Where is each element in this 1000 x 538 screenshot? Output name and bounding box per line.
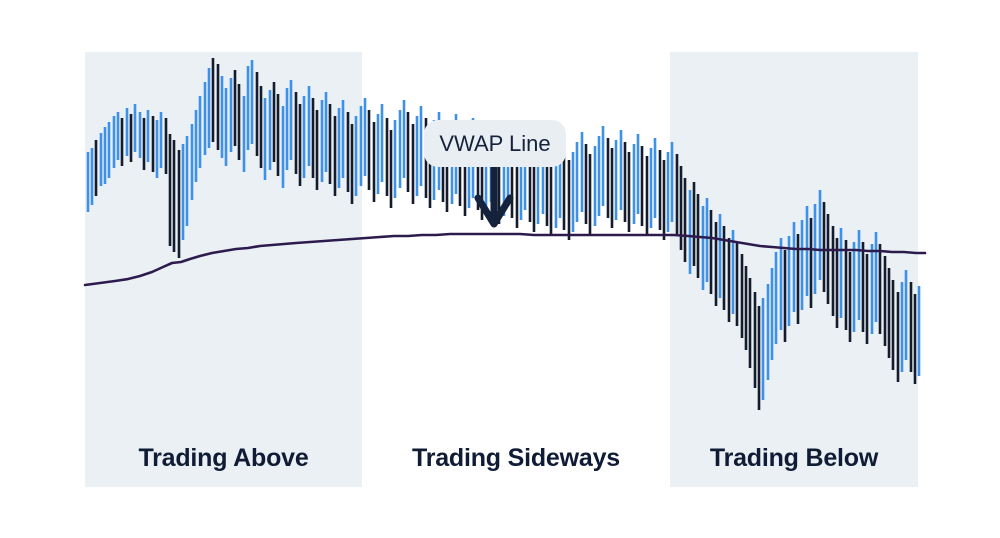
price-bar bbox=[905, 270, 908, 360]
price-bar bbox=[858, 230, 861, 320]
price-bar bbox=[355, 116, 358, 196]
price-bar bbox=[659, 150, 662, 230]
price-bar bbox=[325, 92, 328, 172]
price-bar bbox=[797, 234, 800, 324]
price-bar bbox=[914, 294, 917, 384]
price-bar bbox=[602, 126, 605, 206]
price-bar bbox=[286, 88, 289, 170]
price-bar bbox=[403, 100, 406, 178]
price-bar bbox=[784, 250, 787, 342]
price-bar bbox=[680, 166, 683, 250]
price-bar bbox=[594, 146, 597, 226]
price-bar bbox=[901, 282, 904, 372]
price-bar bbox=[671, 142, 674, 222]
price-bar bbox=[620, 130, 623, 210]
price-bar bbox=[719, 214, 722, 298]
price-bar bbox=[108, 122, 111, 178]
price-bar bbox=[871, 244, 874, 334]
price-bar bbox=[399, 110, 402, 188]
zone-label-trading-below: Trading Below bbox=[670, 444, 918, 473]
price-bar bbox=[667, 152, 670, 232]
price-bar bbox=[256, 72, 259, 156]
price-bar bbox=[87, 152, 90, 212]
price-bar bbox=[373, 122, 376, 202]
price-bar bbox=[238, 84, 241, 160]
price-bar bbox=[113, 116, 116, 168]
price-bar bbox=[767, 284, 770, 380]
price-bar bbox=[576, 142, 579, 222]
price-bar bbox=[710, 210, 713, 294]
price-bar bbox=[178, 150, 181, 258]
price-bar bbox=[736, 242, 739, 326]
price-bar bbox=[866, 254, 869, 344]
price-bar bbox=[762, 298, 765, 400]
price-bar bbox=[351, 124, 354, 204]
price-bar bbox=[182, 144, 185, 240]
price-bar bbox=[143, 118, 146, 170]
price-bar bbox=[840, 228, 843, 318]
price-bar bbox=[749, 278, 752, 368]
price-bar bbox=[269, 90, 272, 170]
price-bar bbox=[277, 94, 280, 176]
price-bar bbox=[819, 190, 822, 280]
price-bar bbox=[243, 96, 246, 172]
price-bar bbox=[295, 92, 298, 174]
price-bar bbox=[412, 124, 415, 204]
vwap-callout-label: VWAP Line bbox=[439, 131, 550, 157]
price-bar bbox=[264, 98, 267, 180]
vwap-callout: VWAP Line bbox=[424, 120, 566, 167]
price-bar bbox=[633, 144, 636, 224]
price-bar bbox=[598, 136, 601, 216]
price-bar bbox=[654, 138, 657, 218]
price-bar bbox=[386, 118, 389, 196]
price-bar bbox=[849, 252, 852, 342]
price-bar bbox=[186, 136, 189, 226]
price-bar bbox=[875, 232, 878, 322]
price-bar bbox=[308, 86, 311, 166]
price-bar bbox=[637, 134, 640, 214]
price-bar bbox=[152, 116, 155, 172]
price-bar bbox=[801, 220, 804, 310]
price-bar bbox=[321, 100, 324, 182]
vwap-zones-chart: Trading Above Trading Sideways Trading B… bbox=[0, 0, 1000, 538]
price-bar bbox=[615, 140, 618, 220]
price-bar bbox=[758, 306, 761, 410]
price-bar bbox=[273, 82, 276, 162]
price-bar bbox=[117, 112, 120, 160]
price-bar bbox=[394, 120, 397, 198]
price-bar bbox=[234, 70, 237, 146]
price-bar bbox=[550, 156, 553, 236]
price-bar bbox=[676, 154, 679, 236]
price-bar bbox=[585, 144, 588, 224]
price-bar bbox=[810, 218, 813, 308]
price-bar bbox=[381, 104, 384, 182]
price-bar bbox=[160, 112, 163, 168]
price-bar bbox=[165, 118, 168, 174]
price-bar bbox=[741, 254, 744, 338]
price-bar bbox=[910, 282, 913, 372]
price-bar bbox=[173, 140, 176, 252]
price-bar bbox=[290, 80, 293, 160]
price-bar bbox=[420, 106, 423, 186]
price-bar bbox=[827, 214, 830, 304]
price-bar bbox=[130, 114, 133, 162]
price-bar bbox=[611, 148, 614, 228]
price-bar bbox=[390, 130, 393, 208]
price-bar bbox=[91, 148, 94, 205]
price-bar bbox=[684, 178, 687, 262]
price-bar bbox=[918, 286, 921, 376]
price-bar bbox=[745, 266, 748, 350]
price-bar bbox=[368, 110, 371, 190]
price-bar bbox=[221, 76, 224, 158]
price-bar bbox=[217, 64, 220, 150]
price-bar bbox=[607, 138, 610, 218]
price-bar bbox=[191, 124, 194, 200]
price-bar bbox=[728, 238, 731, 322]
price-bar bbox=[563, 150, 566, 230]
price-bar bbox=[646, 156, 649, 236]
price-bar bbox=[888, 268, 891, 358]
price-bar bbox=[169, 134, 172, 246]
price-bar bbox=[793, 222, 796, 312]
price-bar bbox=[282, 106, 285, 188]
price-bar bbox=[377, 114, 380, 194]
price-bar bbox=[134, 104, 137, 152]
price-bar bbox=[572, 152, 575, 232]
price-bar bbox=[204, 82, 207, 155]
price-bar bbox=[416, 116, 419, 196]
price-bar bbox=[364, 98, 367, 176]
price-bar bbox=[342, 100, 345, 178]
zone-label-trading-above: Trading Above bbox=[85, 444, 362, 473]
price-bar bbox=[251, 60, 254, 144]
price-bar bbox=[147, 110, 150, 162]
price-bar bbox=[407, 112, 410, 192]
price-bar bbox=[312, 98, 315, 178]
price-bar bbox=[260, 86, 263, 168]
price-bar bbox=[897, 292, 900, 382]
price-bar bbox=[581, 132, 584, 212]
price-bar bbox=[689, 190, 692, 274]
price-bar bbox=[628, 152, 631, 232]
price-bar bbox=[845, 240, 848, 330]
price-bar bbox=[624, 142, 627, 222]
price-bar bbox=[754, 292, 757, 388]
price-bar bbox=[775, 252, 778, 344]
price-bar bbox=[771, 268, 774, 360]
price-bar bbox=[139, 112, 142, 158]
price-bar bbox=[823, 202, 826, 292]
price-bar bbox=[156, 120, 159, 178]
price-bar bbox=[663, 160, 666, 240]
price-bar bbox=[836, 238, 839, 328]
price-bar bbox=[338, 108, 341, 188]
price-bar bbox=[862, 242, 865, 332]
price-bar bbox=[693, 182, 696, 266]
price-bar bbox=[806, 206, 809, 296]
price-bar bbox=[832, 226, 835, 316]
price-bar bbox=[303, 96, 306, 178]
price-bar bbox=[360, 106, 363, 186]
price-bar bbox=[121, 118, 124, 166]
price-bar bbox=[589, 154, 592, 234]
price-bar bbox=[208, 68, 211, 148]
price-bar bbox=[706, 198, 709, 282]
price-bar bbox=[126, 108, 129, 156]
price-bar bbox=[347, 112, 350, 192]
price-bar bbox=[641, 146, 644, 226]
price-bar bbox=[329, 104, 332, 184]
price-bar bbox=[230, 78, 233, 152]
price-bar bbox=[212, 58, 215, 142]
price-bar bbox=[316, 110, 319, 190]
price-bar bbox=[884, 256, 887, 346]
price-bar bbox=[702, 206, 705, 290]
price-bar bbox=[100, 133, 103, 186]
price-bar bbox=[195, 110, 198, 182]
price-bar bbox=[853, 242, 856, 332]
price-bar bbox=[95, 140, 98, 196]
price-bar bbox=[225, 88, 228, 166]
price-bar bbox=[892, 280, 895, 370]
price-bar bbox=[334, 116, 337, 196]
price-bar bbox=[247, 66, 250, 150]
price-bar bbox=[199, 96, 202, 168]
price-bar bbox=[780, 238, 783, 330]
price-bar bbox=[299, 104, 302, 186]
price-bar bbox=[104, 127, 107, 184]
price-bar bbox=[650, 148, 653, 228]
zone-label-trading-sideways: Trading Sideways bbox=[362, 444, 670, 473]
price-bar bbox=[715, 222, 718, 306]
price-bar bbox=[879, 244, 882, 334]
price-bar bbox=[568, 160, 571, 240]
